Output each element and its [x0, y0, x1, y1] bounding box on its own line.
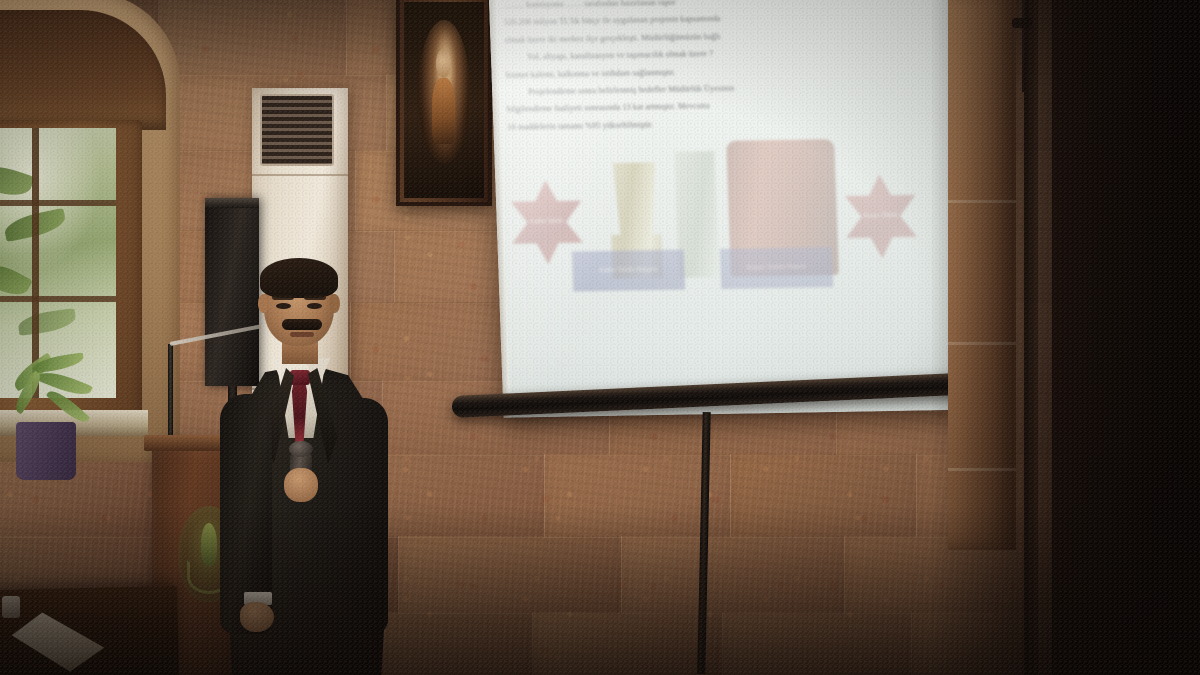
slide-text-block: …….. komisyonu …… tarafından hazırlanan … — [503, 0, 940, 139]
ac-vent-grille — [260, 94, 334, 166]
presenter-ear-right — [329, 294, 340, 313]
presenter-eyebrow-left — [272, 295, 294, 300]
presenter-mouth — [290, 332, 314, 337]
microphone-head — [289, 441, 313, 457]
presenter-ear-left — [258, 294, 269, 313]
slide-paragraph: bilgilendirme faaliyeti sonrasında 13 ka… — [507, 97, 939, 116]
slide-paragraph: Yol, altyapı, kanalizasyon ve taşımacılı… — [505, 44, 937, 63]
presenter-hair — [260, 258, 338, 298]
slide-paragraph: 16 maddelerin tamamı %95 yükseltilmiştir… — [507, 114, 939, 133]
award-caption-2: Başarı Ödülü Plaketi — [720, 247, 833, 289]
speaker-top-bevel — [205, 198, 259, 208]
bottom-shadow-gradient — [0, 505, 1200, 675]
portrait-mat — [404, 2, 484, 198]
slide-content: …….. komisyonu …… tarafından hazırlanan … — [503, 0, 948, 366]
portrait-oval-image — [418, 20, 470, 164]
star-badge-right-icon: Başarı Ödülü — [837, 174, 924, 259]
award-photo-row: Kalite Ödülü Belgesi Başarı Ödülü Plaket… — [508, 139, 945, 296]
framed-portrait — [396, 0, 492, 206]
slide-paragraph: Projelendirme sonra belirlenmiş hedefler… — [506, 79, 938, 98]
slide-paragraph: hizmet kalemi, kalkınma ve istihdam sağl… — [505, 62, 937, 81]
presenter-eyebrow-right — [304, 295, 326, 300]
plant-pot — [16, 422, 76, 480]
award-caption-1: Kalite Ödülü Belgesi — [572, 250, 685, 292]
slide-paragraph: 520.208 milyon TL'lik bütçe ile uygulana… — [504, 10, 936, 29]
projection-screen: …….. komisyonu …… tarafından hazırlanan … — [488, 0, 966, 418]
slide-paragraph: …….. komisyonu …… tarafından hazırlanan … — [503, 0, 935, 11]
portrait-torso — [432, 78, 456, 144]
potted-plant — [4, 360, 124, 480]
presenter-mustache — [282, 319, 322, 330]
portrait-face — [436, 49, 452, 78]
presenter-hand-right — [284, 468, 318, 502]
slide-paragraph: olmak üzere iki merkez ilçe gerçekleşti.… — [504, 27, 936, 46]
presenter-eye-left — [276, 303, 291, 309]
presenter-eye-right — [307, 303, 322, 309]
photograph-scene: …….. komisyonu …… tarafından hazırlanan … — [0, 0, 1200, 675]
